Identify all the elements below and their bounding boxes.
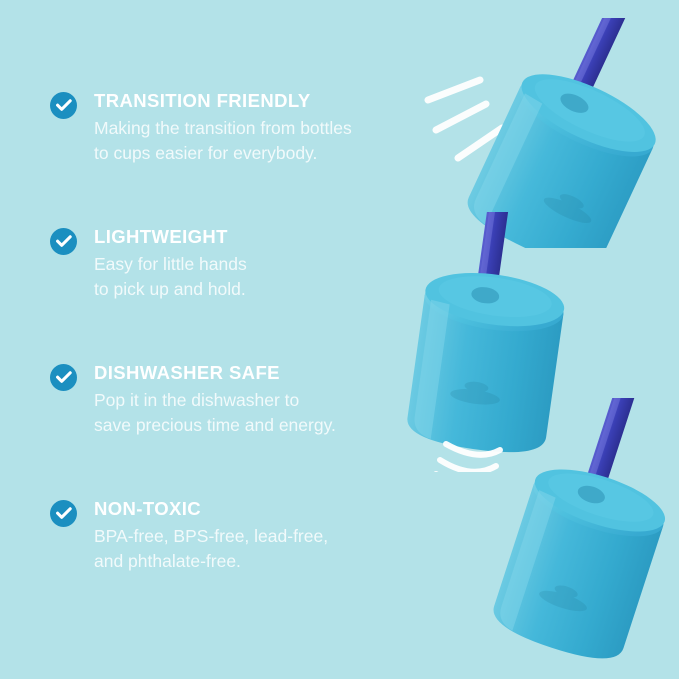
feature-list: TRANSITION FRIENDLY Making the transitio… [0, 0, 420, 679]
feature-body-line: to pick up and hold. [94, 277, 247, 302]
check-circle-icon [50, 228, 77, 255]
feature-body: Pop it in the dishwasher to save preciou… [94, 388, 336, 438]
feature-body-line: save precious time and energy. [94, 413, 336, 438]
feature-heading: LIGHTWEIGHT [94, 226, 247, 248]
feature-item-dishwasher-safe: DISHWASHER SAFE Pop it in the dishwasher… [50, 362, 336, 438]
check-circle-icon [50, 92, 77, 119]
feature-body-line: Pop it in the dishwasher to [94, 388, 336, 413]
motion-lines-top [428, 80, 502, 158]
check-circle-icon [50, 364, 77, 391]
feature-body-line: and phthalate-free. [94, 549, 328, 574]
feature-item-transition-friendly: TRANSITION FRIENDLY Making the transitio… [50, 90, 352, 166]
check-circle-icon [50, 500, 77, 527]
cup-body-bottom [487, 457, 672, 669]
silicone-cup-bottom [470, 398, 679, 679]
feature-heading: NON-TOXIC [94, 498, 328, 520]
feature-body: Easy for little hands to pick up and hol… [94, 252, 247, 302]
infographic-canvas: TRANSITION FRIENDLY Making the transitio… [0, 0, 679, 679]
feature-body-line: BPA-free, BPS-free, lead-free, [94, 524, 328, 549]
feature-body-line: Making the transition from bottles [94, 116, 352, 141]
feature-item-non-toxic: NON-TOXIC BPA-free, BPS-free, lead-free,… [50, 498, 328, 574]
feature-item-lightweight: LIGHTWEIGHT Easy for little hands to pic… [50, 226, 247, 302]
feature-body: BPA-free, BPS-free, lead-free, and phtha… [94, 524, 328, 574]
feature-body: Making the transition from bottles to cu… [94, 116, 352, 166]
feature-heading: DISHWASHER SAFE [94, 362, 336, 384]
feature-body-line: Easy for little hands [94, 252, 247, 277]
feature-heading: TRANSITION FRIENDLY [94, 90, 352, 112]
feature-body-line: to cups easier for everybody. [94, 141, 352, 166]
